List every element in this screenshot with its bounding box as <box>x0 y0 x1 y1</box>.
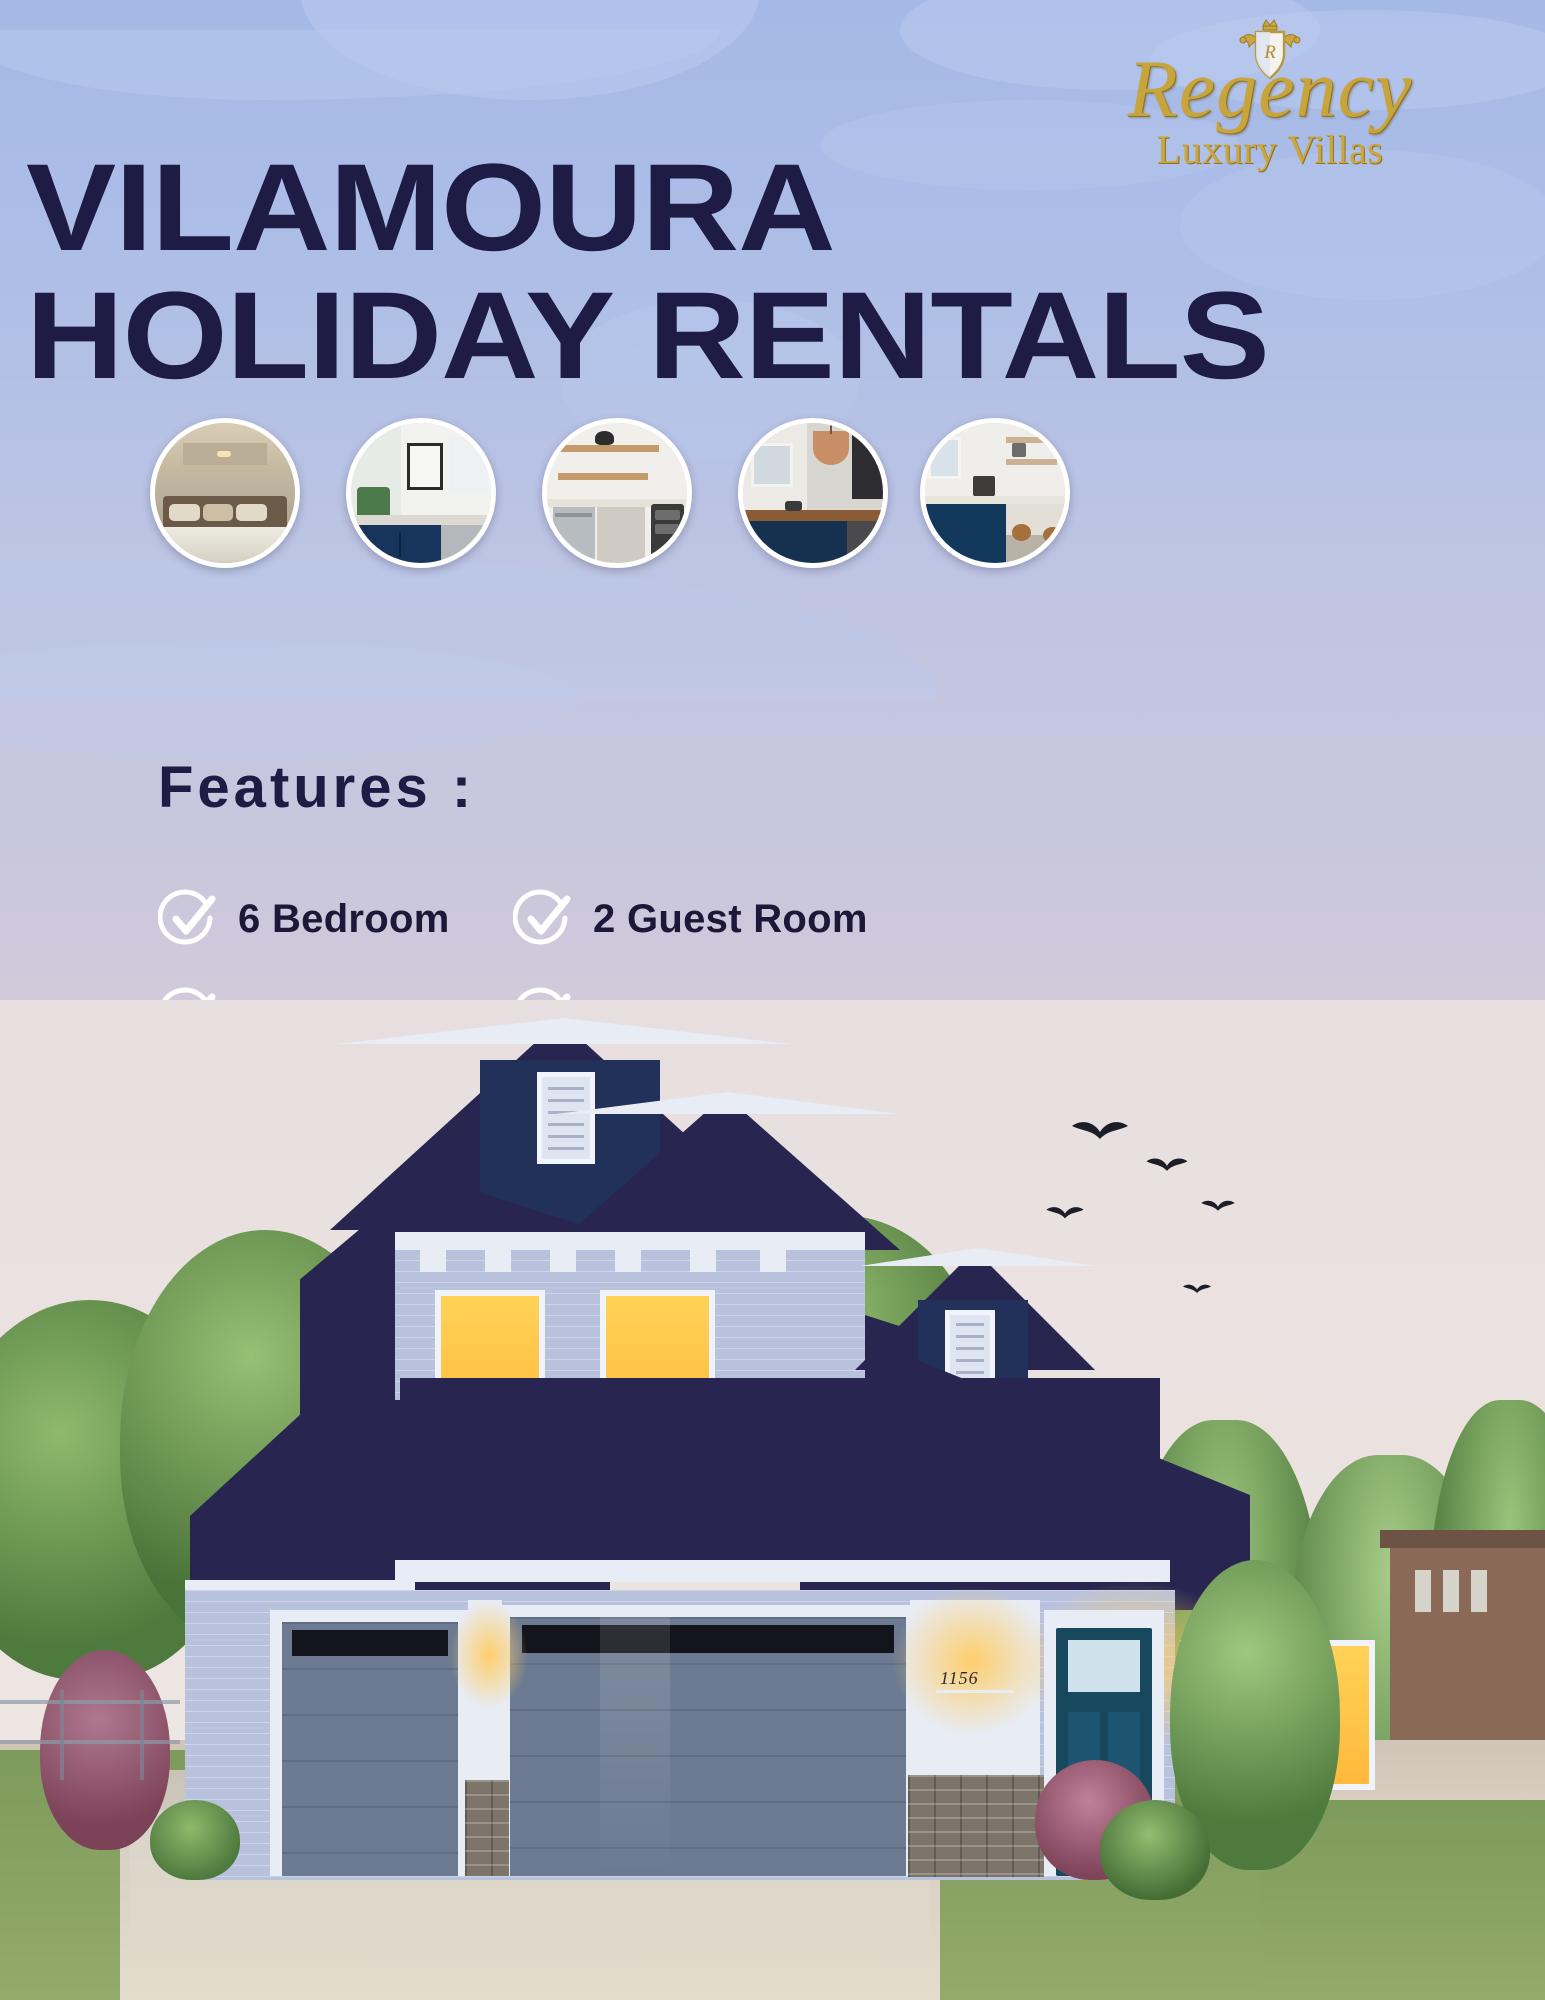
upper-facade-trim <box>395 1232 865 1250</box>
house-number-underline <box>936 1690 1014 1693</box>
sconce-light-glow <box>450 1600 528 1710</box>
gallery-thumb-bedroom[interactable] <box>150 418 300 568</box>
garage-door-gloss <box>600 1617 670 1876</box>
garage-pier-stone <box>465 1780 509 1876</box>
roof-garage-main <box>400 1378 1160 1578</box>
garage-door-right[interactable] <box>510 1617 906 1876</box>
roof-right-wing-trim <box>860 1248 1096 1266</box>
gallery-thumb-appliances[interactable] <box>542 418 692 568</box>
feature-label: 2 Guest Room <box>593 897 868 942</box>
garage-window-strip-right <box>522 1625 894 1653</box>
brand-name: Regency <box>1055 48 1485 130</box>
check-circle-icon <box>158 888 220 950</box>
features-row-1: 6 Bedroom 2 Guest Room <box>158 870 1058 968</box>
right-attic-vent <box>945 1310 995 1384</box>
entry-pier-stone <box>908 1775 1044 1877</box>
dentil-2 <box>485 1250 511 1272</box>
gallery-thumbnail-row <box>150 418 1070 583</box>
roof-trim-gable <box>336 1018 792 1044</box>
page-title: VILAMOURA HOLIDAY RENTALS <box>26 148 1312 397</box>
gallery-thumb-island[interactable] <box>920 418 1070 568</box>
front-door-window <box>1068 1640 1140 1692</box>
check-circle-icon <box>513 888 575 950</box>
feature-item-6-bedroom[interactable]: 6 Bedroom <box>158 888 513 950</box>
dentil-6 <box>760 1250 786 1272</box>
gallery-thumb-dining[interactable] <box>738 418 888 568</box>
gallery-thumb-kitchen[interactable] <box>346 418 496 568</box>
feature-label: 6 Bedroom <box>238 897 450 942</box>
roof-front-gable <box>550 1095 900 1250</box>
garage-door-left[interactable] <box>282 1622 458 1876</box>
title-line-1: VILAMOURA <box>26 148 1312 270</box>
house-number: 1156 <box>940 1668 979 1689</box>
roof-trim-front-gable <box>556 1092 900 1114</box>
dentil-3 <box>550 1250 576 1272</box>
garage-eave-trim <box>395 1560 1170 1582</box>
title-line-2: HOLIDAY RENTALS <box>26 276 1312 398</box>
dentil-1 <box>420 1250 446 1272</box>
poster-canvas: R Regency Luxury Villas VILAMOURA HOLIDA… <box>0 0 1545 2000</box>
dentil-4 <box>615 1250 641 1272</box>
feature-item-2-guest-room[interactable]: 2 Guest Room <box>513 888 868 950</box>
garage-window-strip-left <box>292 1630 448 1656</box>
house-exterior-photo: 1156 <box>0 1000 1545 2000</box>
features-heading: Features : <box>158 754 475 821</box>
dentil-5 <box>690 1250 716 1272</box>
